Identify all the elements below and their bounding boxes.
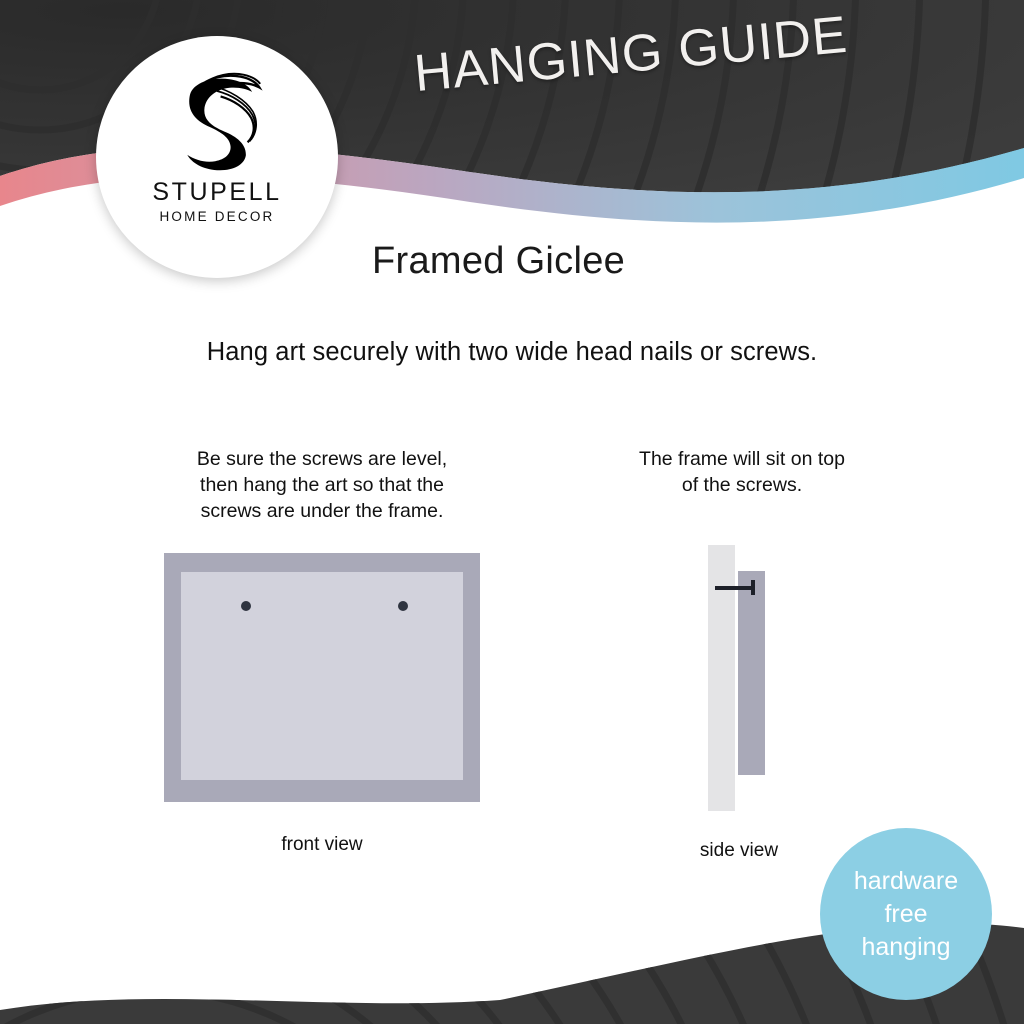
front-view-diagram (164, 553, 480, 802)
screw-dot-right (398, 601, 408, 611)
logo-brand-name: STUPELL (152, 178, 281, 207)
side-view-screw-shaft (715, 586, 754, 590)
product-name: Framed Giclee (372, 240, 625, 283)
lead-instruction-text: Hang art securely with two wide head nai… (0, 338, 1024, 367)
side-view-caption-line-1: The frame will sit on top (596, 446, 888, 472)
brand-logo-badge: STUPELL HOME DECOR (96, 36, 338, 278)
page-title: HANGING GUIDE (369, 1, 892, 108)
hanging-guide-page: HANGING GUIDE STUPELL HOME DECOR Framed … (0, 0, 1024, 1024)
logo-tagline: HOME DECOR (159, 209, 274, 224)
badge-line-1: hardware (854, 865, 958, 898)
front-view-label: front view (164, 834, 480, 856)
side-view-caption: The frame will sit on top of the screws. (596, 446, 888, 498)
front-view-frame-interior (181, 572, 463, 780)
side-view-frame (738, 571, 765, 775)
badge-line-2: free (884, 898, 927, 931)
front-view-caption: Be sure the screws are level, then hang … (150, 446, 494, 524)
stupell-swoosh-icon (163, 64, 271, 172)
badge-line-3: hanging (862, 931, 951, 964)
side-view-screw-head (751, 580, 755, 595)
side-view-wall (708, 545, 735, 811)
front-view-caption-line-2: then hang the art so that the (150, 472, 494, 498)
side-view-caption-line-2: of the screws. (596, 472, 888, 498)
side-view-diagram (708, 545, 770, 811)
front-view-caption-line-1: Be sure the screws are level, (150, 446, 494, 472)
front-view-caption-line-3: screws are under the frame. (150, 498, 494, 524)
side-view-label: side view (660, 840, 818, 862)
hardware-free-hanging-badge: hardware free hanging (820, 828, 992, 1000)
screw-dot-left (241, 601, 251, 611)
